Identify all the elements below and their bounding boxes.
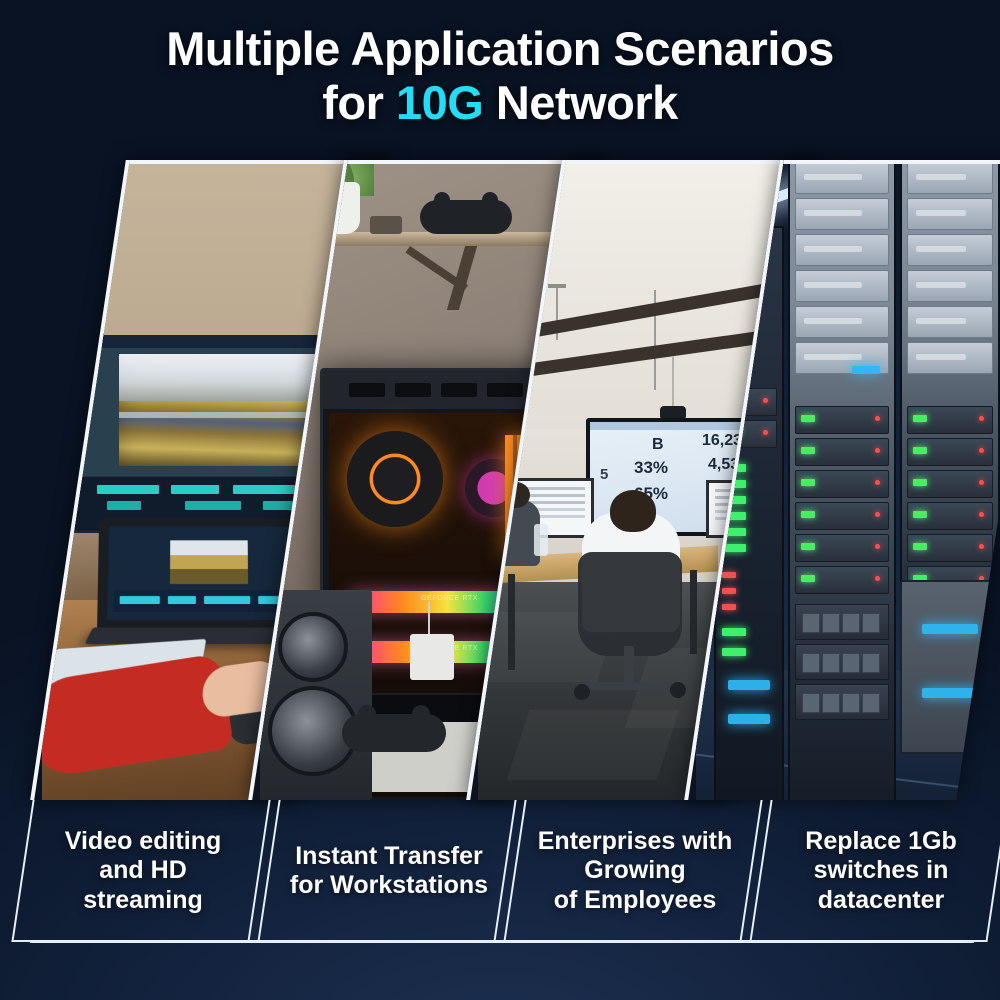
caption-workstation[interactable]: Instant Transfer for Workstations: [257, 800, 516, 942]
title-suffix: Network: [483, 76, 678, 129]
power-brick: [410, 634, 454, 680]
gpu-label: GEFORCE RTX: [421, 595, 478, 602]
enclosure-status-led: [922, 624, 978, 634]
game-controller-shelf: [420, 200, 512, 234]
table-leg: [508, 574, 515, 670]
case-top-panel: [323, 371, 559, 409]
page-title-line2: for 10G Network: [0, 78, 1000, 128]
caption-video-editing[interactable]: Video editing and HD streaming: [11, 800, 270, 942]
mesh-office-chair: [578, 552, 682, 656]
server-rack-center: [788, 160, 896, 800]
cable: [428, 602, 430, 636]
caption-text: Video editing and HD streaming: [12, 800, 274, 942]
title-accent-10g: 10G: [396, 76, 483, 129]
table-leg: [690, 570, 697, 654]
storage-enclosure: [900, 580, 1000, 754]
caption-text: Enterprises with Growing of Employees: [504, 800, 766, 942]
display-label-b: B: [652, 436, 664, 454]
caption-text: Instant Transfer for Workstations: [258, 800, 520, 942]
display-percent-1: 33%: [634, 458, 668, 478]
caption-enterprise[interactable]: Enterprises with Growing of Employees: [503, 800, 762, 942]
panel-top-edge: [783, 160, 1000, 164]
scenario-photo-strip: GEFORCE RTX GEFORCE RTX RM1000: [0, 160, 1000, 800]
hanging-camera-stem: [672, 356, 674, 406]
chair-base: [582, 682, 680, 690]
caption-datacenter[interactable]: Replace 1Gb switches in datacenter: [749, 800, 1000, 942]
title-prefix: for: [322, 76, 396, 129]
employee-head: [610, 490, 656, 532]
studio-speaker: [260, 590, 372, 800]
laptop-timeline: [113, 590, 292, 612]
caption-text: Replace 1Gb switches in datacenter: [750, 800, 1000, 942]
water-bottle: [534, 524, 548, 556]
caption-row: Video editing and HD streaming Instant T…: [0, 800, 1000, 950]
title-block: Multiple Application Scenarios for 10G N…: [0, 24, 1000, 128]
infographic-root: Multiple Application Scenarios for 10G N…: [0, 0, 1000, 1000]
timeline-clip: [107, 501, 141, 510]
laptop-clip-preview: [170, 540, 248, 584]
timeline-clip: [97, 485, 159, 494]
timeline-clip: [171, 485, 219, 494]
landscape-clip-preview: [119, 354, 315, 466]
speaker-tweeter-icon: [278, 612, 348, 682]
shelf-object: [370, 216, 402, 234]
page-title-line1: Multiple Application Scenarios: [0, 24, 1000, 74]
wall-shelf: [288, 232, 588, 246]
chair-caster: [670, 682, 686, 698]
display-partial-value: 5: [600, 466, 608, 483]
chair-caster: [574, 684, 590, 700]
wall-art-frame-icon: [48, 186, 104, 346]
timeline-clip: [185, 501, 241, 510]
laptop-screen: [107, 527, 300, 621]
game-controller-desk: [342, 714, 446, 752]
caption-bottom-rule: [30, 940, 974, 943]
enclosure-status-led: [922, 688, 978, 698]
rgb-cpu-fan: [347, 431, 443, 527]
